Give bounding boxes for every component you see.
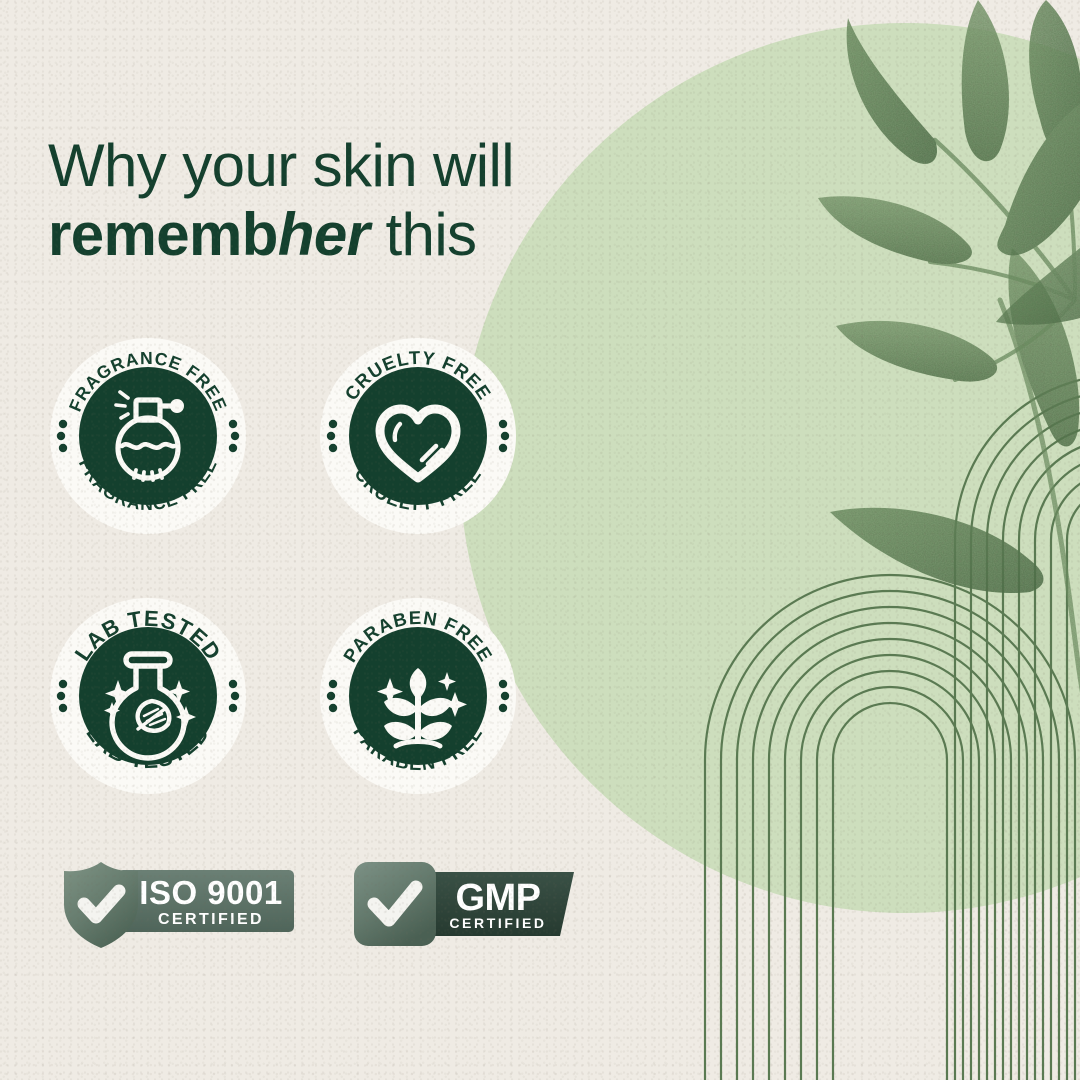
badge-fragrance-free[interactable]: FRAGRANCE FREE FRAGRANCE FREE <box>48 336 248 536</box>
gmp-subtitle: CERTIFIED <box>449 915 546 931</box>
certification-row: ISO 9001 CERTIFIED <box>56 856 578 952</box>
leaf <box>962 0 1009 161</box>
headline-part-her: her <box>278 201 370 268</box>
cert-gmp[interactable]: GMP CERTIFIED <box>346 856 578 952</box>
page-title: Why your skin will remembher this <box>48 132 514 269</box>
badge-paraben-free[interactable]: PARABEN FREE PARABEN FREE <box>318 596 518 796</box>
iso-title: ISO 9001 <box>139 874 282 911</box>
badge-cruelty-free[interactable]: CRUELTY FREE CRUELTY FREE <box>318 336 518 536</box>
certification-badge-grid: FRAGRANCE FREE FRAGRANCE FREE <box>48 336 518 796</box>
headline-part-rememb: rememb <box>48 201 278 268</box>
iso-subtitle: CERTIFIED <box>158 911 264 928</box>
headline-line-2: remembher this <box>48 201 514 269</box>
poster-canvas: Why your skin will remembher this FRAGRA… <box>0 0 1080 1080</box>
headline-part-this: this <box>369 201 476 268</box>
gmp-title: GMP <box>455 877 540 919</box>
headline-line-1: Why your skin will <box>48 132 514 200</box>
cert-iso-9001[interactable]: ISO 9001 CERTIFIED <box>56 856 300 952</box>
badge-lab-tested[interactable]: LAB TESTED LAB TESTED <box>48 596 248 796</box>
